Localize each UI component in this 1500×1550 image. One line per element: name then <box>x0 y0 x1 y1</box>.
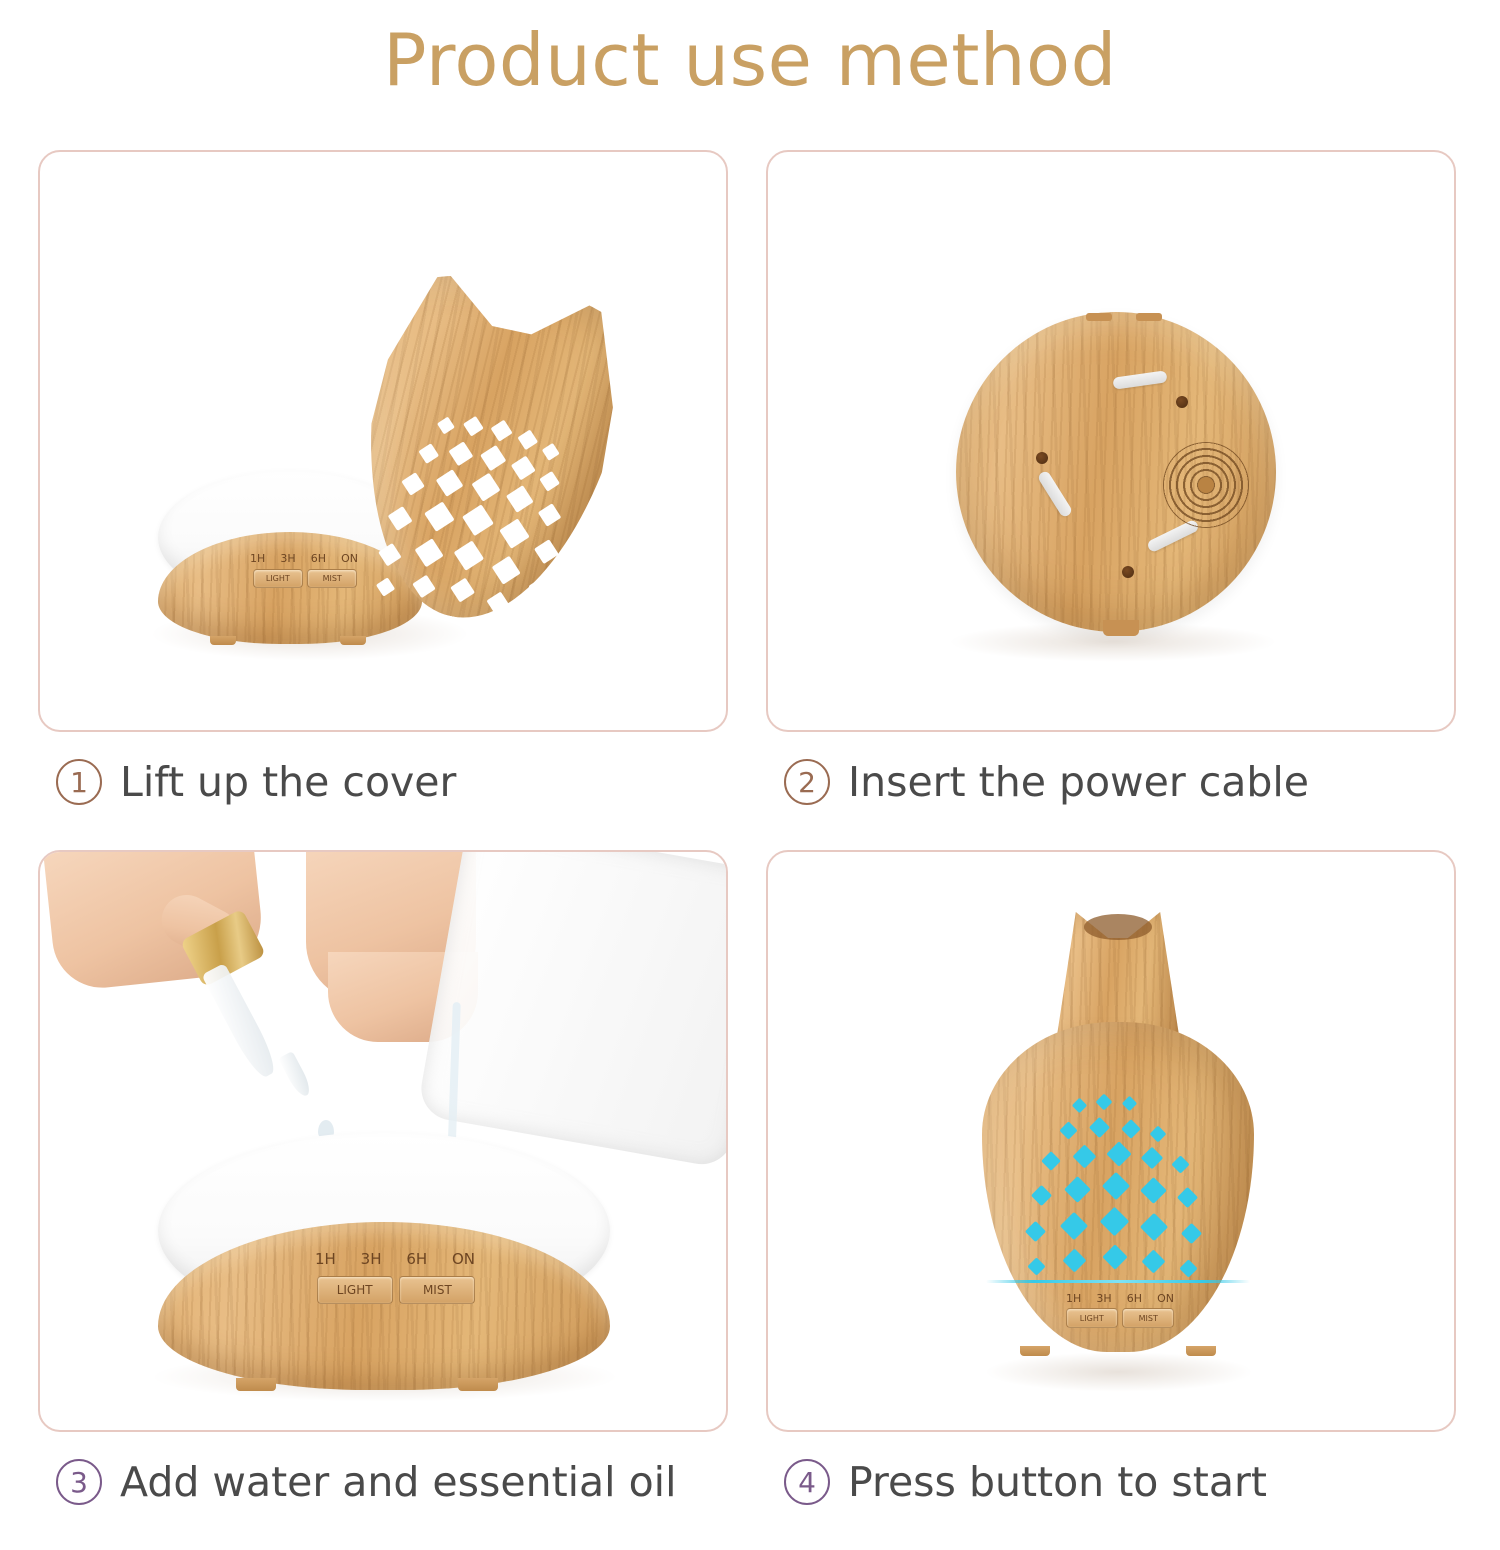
mist-button[interactable]: MIST <box>399 1276 475 1304</box>
fan-center <box>1198 477 1214 493</box>
step-1-illustration: 1H 3H 6H ON LIGHT MIST <box>40 152 726 730</box>
shadow <box>984 1352 1254 1392</box>
step-3-caption: 3 Add water and essential oil <box>56 1458 676 1506</box>
step-3-caption-text: Add water and essential oil <box>120 1458 676 1506</box>
step-2-caption-text: Insert the power cable <box>848 758 1309 806</box>
timer-label-row-3: 1H 3H 6H ON <box>315 1250 475 1268</box>
step-1-caption: 1 Lift up the cover <box>56 758 456 806</box>
base-foot-left <box>1020 1346 1050 1356</box>
step-3-image-panel: 1H 3H 6H ON LIGHT MIST <box>38 850 728 1432</box>
step-card-1: 1H 3H 6H ON LIGHT MIST <box>38 150 728 850</box>
dropper-tip <box>278 1051 314 1099</box>
step-4-image-panel: 1H 3H 6H ON LIGHT MIST <box>766 850 1456 1432</box>
light-button[interactable]: LIGHT <box>317 1276 393 1304</box>
timer-option-on: ON <box>452 1250 475 1268</box>
base-foot-right <box>458 1378 498 1391</box>
vent-notch-left <box>1086 313 1112 321</box>
timer-option-1h: 1H <box>250 552 265 565</box>
dropper-tube <box>201 963 280 1081</box>
glow-ring-line <box>986 1280 1250 1283</box>
button-row-4: LIGHT MIST <box>1064 1308 1176 1328</box>
step-card-2: 2 Insert the power cable <box>766 150 1456 850</box>
base-foot-right <box>1186 1346 1216 1356</box>
step-card-4: 1H 3H 6H ON LIGHT MIST 4 Pre <box>766 850 1456 1550</box>
screw-bottom <box>1122 566 1134 578</box>
timer-option-3h: 3H <box>361 1250 382 1268</box>
mist-button-label: MIST <box>1139 1314 1158 1323</box>
base-foot-left <box>210 636 236 645</box>
button-row-3: LIGHT MIST <box>312 1274 480 1304</box>
step-3-badge: 3 <box>56 1459 102 1505</box>
step-2-badge: 2 <box>784 759 830 805</box>
timer-option-3h: 3H <box>280 552 295 565</box>
cable-notch-bottom <box>1103 620 1139 636</box>
timer-option-on: ON <box>1157 1292 1174 1305</box>
timer-option-1h: 1H <box>1066 1292 1081 1305</box>
step-2-caption: 2 Insert the power cable <box>784 758 1309 806</box>
cover-lattice <box>329 258 644 643</box>
vent-notch-right <box>1136 313 1162 321</box>
diffuser-cover <box>293 232 687 680</box>
light-button[interactable]: LIGHT <box>253 569 303 588</box>
step-1-image-panel: 1H 3H 6H ON LIGHT MIST <box>38 150 728 732</box>
water-bottle <box>416 850 728 1169</box>
timer-option-3h: 3H <box>1096 1292 1111 1305</box>
light-button[interactable]: LIGHT <box>1066 1308 1118 1328</box>
screw-left <box>1036 452 1048 464</box>
light-button-label: LIGHT <box>337 1283 373 1297</box>
mist-button-label: MIST <box>423 1283 452 1297</box>
step-3-illustration: 1H 3H 6H ON LIGHT MIST <box>40 852 726 1430</box>
vase-neck-inner-shadow <box>1084 914 1152 940</box>
base-foot-right <box>340 636 366 645</box>
step-4-badge: 4 <box>784 1459 830 1505</box>
timer-option-6h: 6H <box>406 1250 427 1268</box>
step-1-badge: 1 <box>56 759 102 805</box>
base-foot-left <box>236 1378 276 1391</box>
step-card-3: 1H 3H 6H ON LIGHT MIST 3 Add <box>38 850 728 1550</box>
timer-option-6h: 6H <box>1127 1292 1142 1305</box>
light-button-label: LIGHT <box>266 574 290 583</box>
page-title: Product use method <box>0 0 1500 102</box>
step-4-illustration: 1H 3H 6H ON LIGHT MIST <box>768 852 1454 1430</box>
step-1-caption-text: Lift up the cover <box>120 758 456 806</box>
screw-top-right <box>1176 396 1188 408</box>
timer-option-1h: 1H <box>315 1250 336 1268</box>
step-2-image-panel <box>766 150 1456 732</box>
mist-button[interactable]: MIST <box>1122 1308 1174 1328</box>
timer-label-row-4: 1H 3H 6H ON <box>1066 1292 1174 1305</box>
step-4-caption: 4 Press button to start <box>784 1458 1267 1506</box>
light-button-label: LIGHT <box>1080 1314 1104 1323</box>
step-2-illustration <box>768 152 1454 730</box>
step-4-caption-text: Press button to start <box>848 1458 1267 1506</box>
